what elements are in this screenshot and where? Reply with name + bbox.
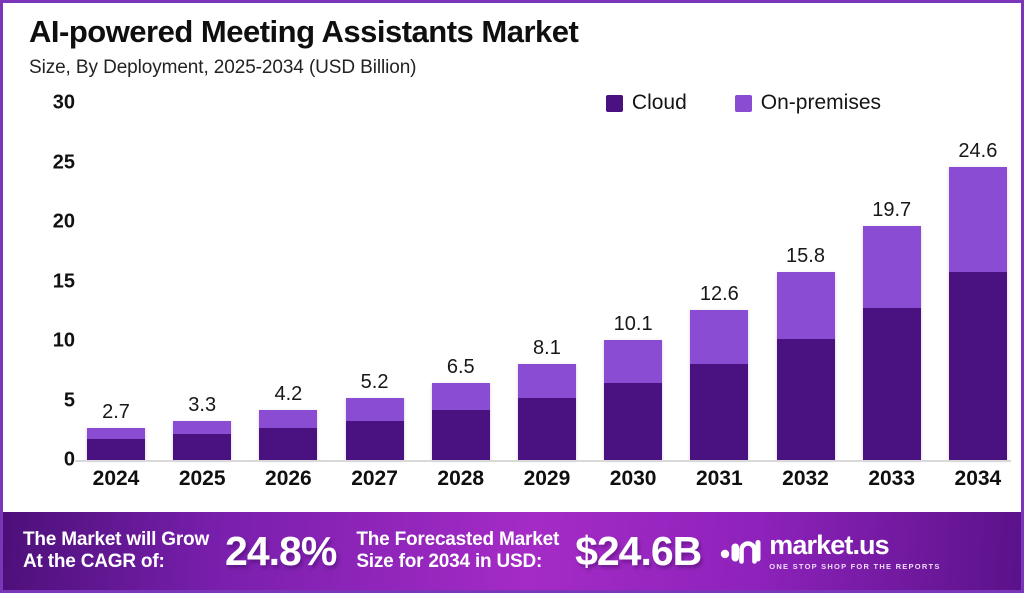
bar-stack <box>518 364 576 460</box>
x-axis-tick: 2025 <box>171 467 233 491</box>
bar-segment-cloud[interactable] <box>346 421 404 460</box>
bar-segment-on-premises[interactable] <box>949 167 1007 272</box>
bar-stack <box>777 272 835 460</box>
bar-column[interactable]: 5.2 <box>344 103 406 460</box>
x-axis-tick: 2030 <box>602 467 664 491</box>
bar-chart-logo-icon <box>719 534 761 568</box>
market-infographic: AI-powered Meeting Assistants Market Siz… <box>0 0 1024 593</box>
chart-subtitle: Size, By Deployment, 2025-2034 (USD Bill… <box>29 57 995 79</box>
bar-stack <box>690 310 748 460</box>
bar-stack <box>173 421 231 460</box>
bar-total-label: 10.1 <box>602 313 664 336</box>
bar-total-label: 5.2 <box>344 371 406 394</box>
x-axis-tick: 2026 <box>257 467 319 491</box>
y-axis-tick: 20 <box>25 211 75 234</box>
bar-segment-on-premises[interactable] <box>346 398 404 421</box>
bar-stack <box>346 398 404 460</box>
bar-segment-on-premises[interactable] <box>604 340 662 383</box>
bar-stack <box>604 340 662 460</box>
bar-segment-cloud[interactable] <box>949 272 1007 460</box>
bar-segment-cloud[interactable] <box>863 308 921 460</box>
logo-text: market.us ONE STOP SHOP FOR THE REPORTS <box>769 532 940 571</box>
bar-column[interactable]: 19.7 <box>861 103 923 460</box>
bar-segment-on-premises[interactable] <box>87 428 145 439</box>
page-title: AI-powered Meeting Assistants Market <box>29 15 995 50</box>
x-axis-tick: 2032 <box>775 467 837 491</box>
bar-total-label: 19.7 <box>861 199 923 222</box>
bar-segment-cloud[interactable] <box>173 434 231 460</box>
bar-column[interactable]: 12.6 <box>688 103 750 460</box>
bar-segment-on-premises[interactable] <box>173 421 231 434</box>
y-axis-tick: 15 <box>25 270 75 293</box>
y-axis-tick: 10 <box>25 330 75 353</box>
bar-segment-cloud[interactable] <box>777 339 835 460</box>
cagr-caption-line1: The Market will Grow <box>23 529 209 551</box>
x-axis-tick: 2027 <box>344 467 406 491</box>
bar-column[interactable]: 2.7 <box>85 103 147 460</box>
bar-column[interactable]: 3.3 <box>171 103 233 460</box>
bar-segment-cloud[interactable] <box>87 439 145 460</box>
x-axis-tick: 2031 <box>688 467 750 491</box>
y-axis-tick: 30 <box>25 92 75 115</box>
bar-stack <box>432 383 490 460</box>
bar-segment-on-premises[interactable] <box>518 364 576 399</box>
forecast-value: $24.6B <box>575 528 701 575</box>
bar-segment-cloud[interactable] <box>259 428 317 460</box>
bar-segment-cloud[interactable] <box>604 383 662 460</box>
forecast-caption: The Forecasted Market Size for 2034 in U… <box>356 529 559 574</box>
bar-segment-cloud[interactable] <box>518 398 576 460</box>
bar-column[interactable]: 24.6 <box>947 103 1009 460</box>
forecast-caption-line1: The Forecasted Market <box>356 529 559 551</box>
bar-total-label: 15.8 <box>775 245 837 268</box>
bar-column[interactable]: 4.2 <box>257 103 319 460</box>
forecast-caption-line2: Size for 2034 in USD: <box>356 551 559 573</box>
logo-wordmark: market.us <box>769 532 940 559</box>
chart-header: AI-powered Meeting Assistants Market Siz… <box>3 3 1021 79</box>
cagr-block: The Market will Grow At the CAGR of: 24.… <box>23 528 336 575</box>
bar-column[interactable]: 8.1 <box>516 103 578 460</box>
chart-plot-area: 051015202530 2.73.34.25.26.58.110.112.61… <box>3 103 1024 518</box>
y-axis-tick: 0 <box>25 449 75 472</box>
x-axis: 2024202520262027202820292030203120322033… <box>85 467 1009 491</box>
x-axis-tick: 2029 <box>516 467 578 491</box>
bar-stack <box>259 410 317 460</box>
footer-banner: The Market will Grow At the CAGR of: 24.… <box>3 512 1021 590</box>
bar-segment-on-premises[interactable] <box>259 410 317 428</box>
y-axis: 051015202530 <box>25 103 75 463</box>
bar-segment-on-premises[interactable] <box>777 272 835 339</box>
cagr-value: 24.8% <box>225 528 336 575</box>
bar-series-container: 2.73.34.25.26.58.110.112.615.819.724.6 <box>85 103 1009 460</box>
bar-total-label: 3.3 <box>171 394 233 417</box>
logo-tagline: ONE STOP SHOP FOR THE REPORTS <box>769 562 940 571</box>
bar-total-label: 24.6 <box>947 140 1009 163</box>
bar-total-label: 4.2 <box>257 383 319 406</box>
bar-stack <box>863 226 921 460</box>
bar-column[interactable]: 15.8 <box>775 103 837 460</box>
forecast-block: The Forecasted Market Size for 2034 in U… <box>356 528 701 575</box>
bar-segment-cloud[interactable] <box>690 364 748 460</box>
x-axis-line <box>75 460 1011 462</box>
bar-total-label: 2.7 <box>85 401 147 424</box>
y-axis-tick: 5 <box>25 389 75 412</box>
bar-segment-on-premises[interactable] <box>863 226 921 308</box>
bar-total-label: 12.6 <box>688 283 750 306</box>
bar-stack <box>87 428 145 460</box>
bar-column[interactable]: 6.5 <box>430 103 492 460</box>
x-axis-tick: 2033 <box>861 467 923 491</box>
cagr-caption: The Market will Grow At the CAGR of: <box>23 529 209 574</box>
y-axis-tick: 25 <box>25 151 75 174</box>
x-axis-tick: 2024 <box>85 467 147 491</box>
bar-segment-cloud[interactable] <box>432 410 490 460</box>
bar-total-label: 6.5 <box>430 356 492 379</box>
bar-segment-on-premises[interactable] <box>690 310 748 364</box>
cagr-caption-line2: At the CAGR of: <box>23 551 209 573</box>
bar-column[interactable]: 10.1 <box>602 103 664 460</box>
x-axis-tick: 2034 <box>947 467 1009 491</box>
bar-stack <box>949 167 1007 460</box>
bar-total-label: 8.1 <box>516 337 578 360</box>
market-us-logo[interactable]: market.us ONE STOP SHOP FOR THE REPORTS <box>719 532 940 571</box>
bar-segment-on-premises[interactable] <box>432 383 490 410</box>
x-axis-tick: 2028 <box>430 467 492 491</box>
